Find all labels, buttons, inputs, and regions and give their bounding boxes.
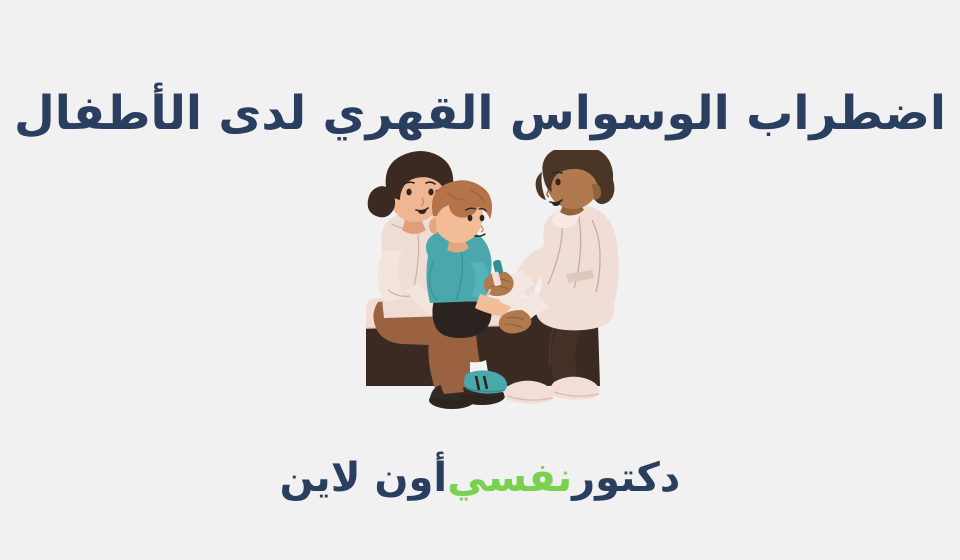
page-title: اضطراب الوسواس القهري لدى الأطفال (0, 79, 960, 149)
tagline-segment-1: دكتور (572, 455, 680, 501)
tagline-segment-3: أون لاين (280, 455, 447, 501)
brand-tagline: دكتور نفسي أون لاين (0, 452, 960, 504)
tagline-segment-accent: نفسي (447, 455, 572, 501)
illustration-doctor-child-mother (330, 150, 630, 410)
poster-canvas: اضطراب الوسواس القهري لدى الأطفال (0, 0, 960, 560)
